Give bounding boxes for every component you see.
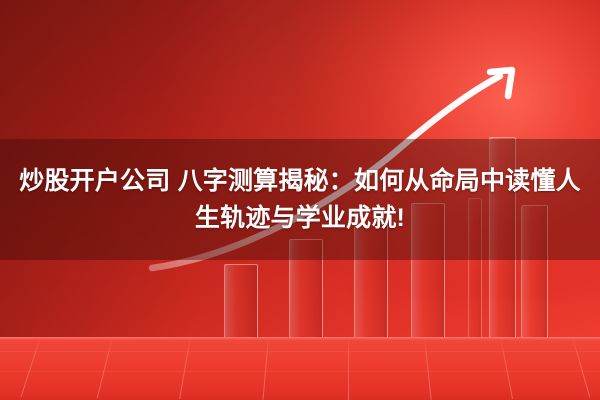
floor-grid-line: [348, 337, 349, 400]
floor-grid-line: [263, 337, 269, 400]
floor-plane: [0, 337, 600, 400]
floor-grid-line: [97, 337, 113, 398]
floor-grid-line: [21, 337, 41, 397]
chart-bar: [224, 264, 258, 339]
headline-line-2: 生轨迹与学业成就!: [195, 200, 405, 237]
floor-grid-line: [572, 337, 590, 398]
floor-grid-line: [0, 351, 600, 352]
promo-banner: 炒股开户公司 八字测算揭秘：如何从命局中读懂人 生轨迹与学业成就!: [0, 0, 600, 400]
floor-grid-line: [424, 337, 432, 400]
bar-highlight: [225, 265, 236, 338]
floor-grid-line: [0, 371, 600, 372]
headline: 炒股开户公司 八字测算揭秘：如何从命局中读懂人 生轨迹与学业成就!: [0, 139, 600, 260]
headline-line-1: 炒股开户公司 八字测算揭秘：如何从命局中读懂人: [19, 163, 581, 200]
floor-grid-line: [179, 337, 191, 399]
floor-grid-line: [500, 337, 513, 399]
